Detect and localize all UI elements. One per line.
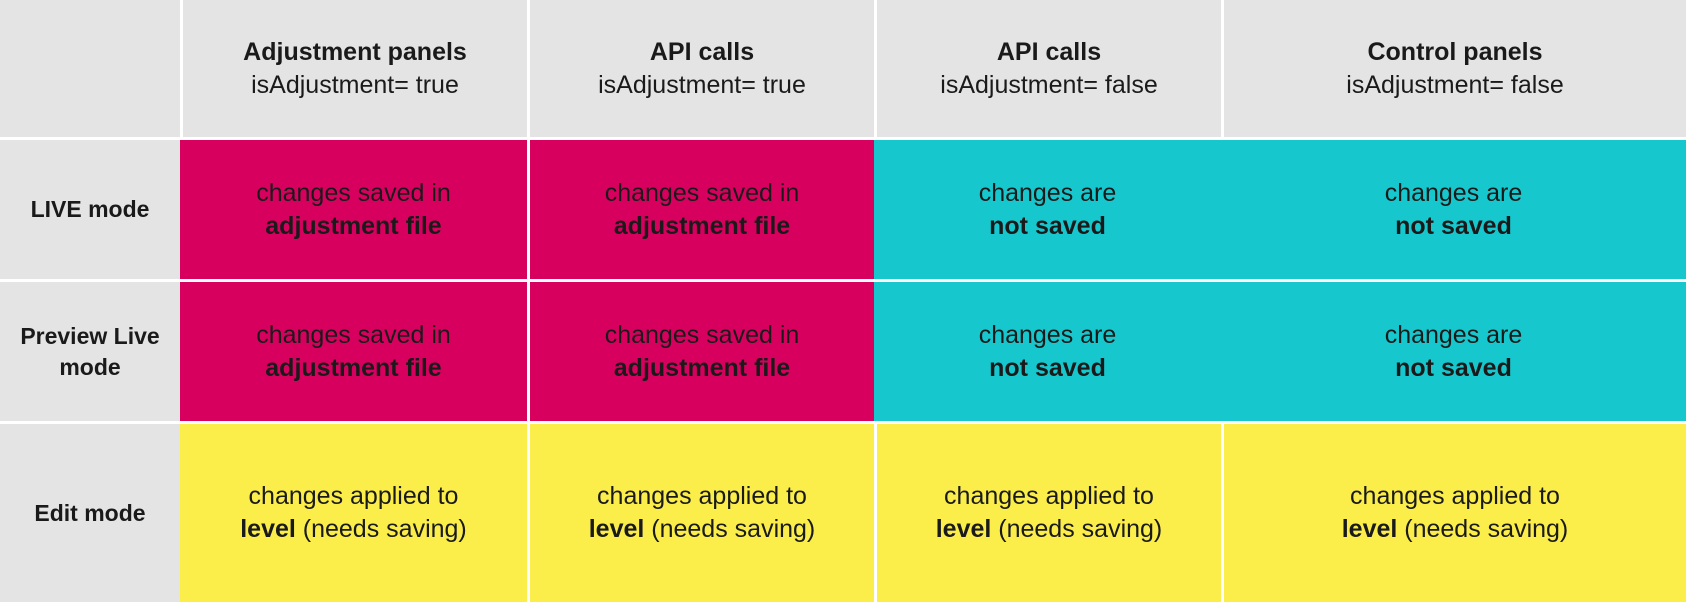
cell-emphasis: adjustment file bbox=[614, 354, 790, 382]
cell-line-2: adjustment file bbox=[265, 352, 441, 385]
cell-line-1: changes saved in bbox=[605, 319, 800, 352]
cell-line-2: adjustment file bbox=[614, 210, 790, 243]
cell-emphasis: adjustment file bbox=[265, 354, 441, 382]
matrix-cell-r1c3: changes arenot saved bbox=[874, 140, 1221, 279]
cell-emphasis: adjustment file bbox=[265, 212, 441, 240]
column-header-title: API calls bbox=[650, 36, 754, 69]
matrix-cell-r2c4: changes arenot saved bbox=[1221, 282, 1686, 421]
column-header-subtitle: isAdjustment= false bbox=[1346, 69, 1563, 102]
cell-emphasis: not saved bbox=[989, 212, 1106, 240]
column-header-subtitle: isAdjustment= true bbox=[251, 69, 459, 102]
matrix-cell-r3c2: changes applied tolevel (needs saving) bbox=[527, 424, 874, 602]
cell-emphasis: level bbox=[240, 515, 296, 543]
cell-line-1: changes are bbox=[979, 177, 1117, 210]
matrix-cell-r1c4: changes arenot saved bbox=[1221, 140, 1686, 279]
cell-line-2: level (needs saving) bbox=[240, 513, 467, 546]
cell-emphasis: adjustment file bbox=[614, 212, 790, 240]
matrix-cell-r2c3: changes arenot saved bbox=[874, 282, 1221, 421]
cell-emphasis: level bbox=[1342, 515, 1398, 543]
matrix-cell-r3c1: changes applied tolevel (needs saving) bbox=[180, 424, 527, 602]
cell-line-2: not saved bbox=[1395, 210, 1512, 243]
cell-emphasis: not saved bbox=[989, 354, 1106, 382]
cell-line-1: changes saved in bbox=[256, 319, 451, 352]
cell-line-1: changes are bbox=[979, 319, 1117, 352]
cell-line-2: level (needs saving) bbox=[589, 513, 816, 546]
cell-line-2: level (needs saving) bbox=[1342, 513, 1569, 546]
cell-emphasis: level bbox=[936, 515, 992, 543]
cell-line-1: changes applied to bbox=[249, 480, 459, 513]
column-header-1: Adjustment panelsisAdjustment= true bbox=[180, 0, 527, 137]
row-header-3: Edit mode bbox=[0, 424, 180, 602]
column-header-3: API callsisAdjustment= false bbox=[874, 0, 1221, 137]
cell-line-1: changes applied to bbox=[944, 480, 1154, 513]
cell-line-2: not saved bbox=[1395, 352, 1512, 385]
matrix-cell-r2c2: changes saved inadjustment file bbox=[527, 282, 874, 421]
row-header-1: LIVE mode bbox=[0, 140, 180, 279]
cell-line-2: not saved bbox=[989, 352, 1106, 385]
cell-emphasis: not saved bbox=[1395, 354, 1512, 382]
cell-line-2: level (needs saving) bbox=[936, 513, 1163, 546]
cell-line-2: not saved bbox=[989, 210, 1106, 243]
column-header-title: Control panels bbox=[1367, 36, 1542, 69]
matrix-cell-r1c1: changes saved inadjustment file bbox=[180, 140, 527, 279]
cell-line-2: adjustment file bbox=[265, 210, 441, 243]
cell-line-2-suffix: (needs saving) bbox=[296, 515, 467, 543]
column-header-4: Control panelsisAdjustment= false bbox=[1221, 0, 1686, 137]
column-header-2: API callsisAdjustment= true bbox=[527, 0, 874, 137]
cell-line-2: adjustment file bbox=[614, 352, 790, 385]
cell-line-1: changes applied to bbox=[1350, 480, 1560, 513]
column-header-subtitle: isAdjustment= false bbox=[940, 69, 1157, 102]
column-header-title: API calls bbox=[997, 36, 1101, 69]
column-header-title: Adjustment panels bbox=[243, 36, 467, 69]
cell-line-1: changes saved in bbox=[256, 177, 451, 210]
cell-emphasis: level bbox=[589, 515, 645, 543]
matrix-cell-r3c3: changes applied tolevel (needs saving) bbox=[874, 424, 1221, 602]
matrix-corner-cell bbox=[0, 0, 180, 137]
cell-emphasis: not saved bbox=[1395, 212, 1512, 240]
comparison-matrix: Adjustment panelsisAdjustment= trueAPI c… bbox=[0, 0, 1686, 593]
cell-line-2-suffix: (needs saving) bbox=[991, 515, 1162, 543]
cell-line-2-suffix: (needs saving) bbox=[1397, 515, 1568, 543]
matrix-cell-r3c4: changes applied tolevel (needs saving) bbox=[1221, 424, 1686, 602]
cell-line-1: changes applied to bbox=[597, 480, 807, 513]
column-header-subtitle: isAdjustment= true bbox=[598, 69, 806, 102]
matrix-cell-r1c2: changes saved inadjustment file bbox=[527, 140, 874, 279]
cell-line-1: changes saved in bbox=[605, 177, 800, 210]
matrix-cell-r2c1: changes saved inadjustment file bbox=[180, 282, 527, 421]
cell-line-1: changes are bbox=[1385, 177, 1523, 210]
cell-line-1: changes are bbox=[1385, 319, 1523, 352]
cell-line-2-suffix: (needs saving) bbox=[644, 515, 815, 543]
row-header-2: Preview Live mode bbox=[0, 282, 180, 421]
